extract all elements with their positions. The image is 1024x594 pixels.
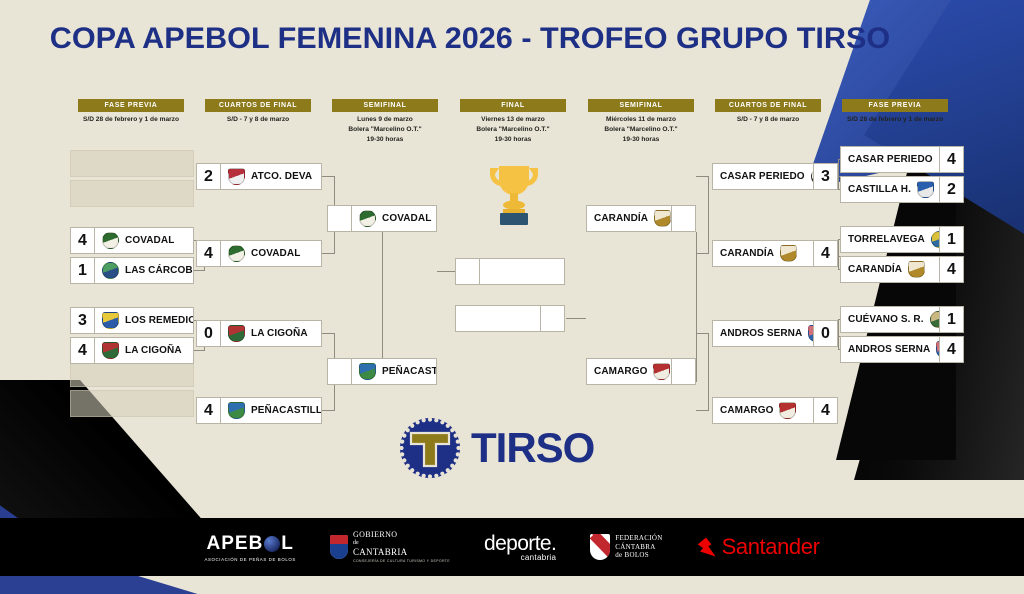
round-badge-final: FINAL: [460, 99, 566, 112]
connector-line: [566, 318, 586, 319]
team-cell: CASTILLA H.: [841, 177, 939, 202]
match-score: 1: [939, 227, 963, 252]
team-crest-icon: [359, 210, 376, 227]
team-cell: COVADAL: [221, 241, 321, 266]
round-subtitle-line: 19-30 horas: [460, 135, 566, 145]
semi-left-row-0[interactable]: COVADAL: [327, 205, 437, 232]
quarter-right-row-3[interactable]: CAMARGO4: [712, 397, 838, 424]
team-name: COVADAL: [251, 248, 300, 259]
round-badge-cuartos-right: CUARTOS DE FINAL: [715, 99, 821, 112]
team-name: CASAR PERIEDO: [720, 171, 805, 182]
team-name: CARANDÍA: [720, 248, 774, 259]
team-name: TORRELAVEGA: [848, 234, 925, 245]
match-score: 1: [71, 258, 95, 283]
federacion-line-1: FEDERACIÓN: [615, 534, 662, 543]
connector-line: [696, 176, 708, 177]
round-header-semifinal-right: SEMIFINALMiércoles 11 de marzoBolera "Ma…: [588, 99, 694, 145]
round-subtitle-line: Bolera "Marcelino O.T.": [588, 125, 694, 135]
team-cell: LAS CÁRCOBAS: [95, 258, 193, 283]
team-cell: [480, 259, 564, 284]
round-subtitle-fase-previa-left: S/D 28 de febrero y 1 de marzo: [78, 115, 184, 125]
match-score: [671, 206, 695, 231]
quarter-right-row-2[interactable]: ANDROS SERNA0: [712, 320, 838, 347]
team-crest-icon: [779, 402, 796, 419]
federacion-shield-icon: [590, 534, 610, 560]
gobierno-line-3: CANTABRIA: [353, 547, 450, 557]
team-crest-icon: [931, 231, 939, 248]
match-score: 0: [813, 321, 837, 346]
semi-left-row-1[interactable]: PEÑACASTILLO: [327, 358, 437, 385]
tirso-wordmark: TIRSO: [471, 424, 594, 472]
match-score: 1: [939, 307, 963, 332]
gobierno-line-1: GOBIERNO: [353, 531, 450, 540]
team-crest-icon: [908, 261, 925, 278]
semi-right-row-0[interactable]: CARANDÍA: [586, 205, 696, 232]
round-subtitle-cuartos-right: S/D - 7 y 8 de marzo: [715, 115, 821, 125]
match-score: 2: [197, 164, 221, 189]
team-crest-icon: [102, 232, 119, 249]
final-row-0[interactable]: [455, 258, 565, 285]
team-cell: CASAR PERIEDO: [841, 147, 939, 172]
round-subtitle-line: S/D - 7 y 8 de marzo: [205, 115, 311, 125]
team-cell: LOS REMEDIOS: [95, 308, 193, 333]
team-crest-icon: [102, 262, 119, 279]
team-name: CASAR PERIEDO: [848, 154, 933, 165]
round-subtitle-line: S/D 28 de febrero y 1 de marzo: [842, 115, 948, 125]
team-cell: CARANDÍA: [713, 241, 813, 266]
round-subtitle-line: Miércoles 11 de marzo: [588, 115, 694, 125]
poster-canvas: COPA APEBOL FEMENINA 2026 - TROFEO GRUPO…: [0, 0, 1024, 576]
prelim-right-row-2[interactable]: TORRELAVEGA1: [840, 226, 964, 253]
team-cell: COVADAL: [95, 228, 193, 253]
team-name: PEÑACASTILLO: [382, 366, 436, 377]
team-cell: CARANDÍA: [587, 206, 671, 231]
logo-federacion-cantabra-bolos: FEDERACIÓN CÁNTABRA de BOLOS: [590, 534, 662, 560]
round-header-semifinal-left: SEMIFINALLunes 9 de marzoBolera "Marceli…: [332, 99, 438, 145]
team-cell: CARANDÍA: [841, 257, 939, 282]
team-name: LAS CÁRCOBAS: [125, 265, 193, 276]
federacion-line-3: de BOLOS: [615, 551, 662, 560]
team-crest-icon: [102, 342, 119, 359]
page-title: COPA APEBOL FEMENINA 2026 - TROFEO GRUPO…: [50, 22, 890, 56]
round-header-fase-previa-left: FASE PREVIAS/D 28 de febrero y 1 de marz…: [78, 99, 184, 125]
team-cell: TORRELAVEGA: [841, 227, 939, 252]
team-crest-icon: [917, 181, 934, 198]
team-cell: CASAR PERIEDO: [713, 164, 813, 189]
round-subtitle-final: Viernes 13 de marzoBolera "Marcelino O.T…: [460, 115, 566, 145]
team-name: CASTILLA H.: [848, 184, 911, 195]
santander-flame-icon: [697, 538, 716, 557]
team-cell: CUÉVANO S. R.: [841, 307, 939, 332]
round-badge-fase-previa-left: FASE PREVIA: [78, 99, 184, 112]
round-header-fase-previa-right: FASE PREVIAS/D 28 de febrero y 1 de marz…: [842, 99, 948, 125]
deporte-subtext: cantabria: [521, 553, 557, 562]
round-subtitle-fase-previa-right: S/D 28 de febrero y 1 de marzo: [842, 115, 948, 125]
round-subtitle-line: S/D - 7 y 8 de marzo: [715, 115, 821, 125]
match-score: [328, 359, 352, 384]
round-header-cuartos-right: CUARTOS DE FINALS/D - 7 y 8 de marzo: [715, 99, 821, 125]
team-crest-icon: [780, 245, 797, 262]
quarter-left-row-2[interactable]: 0LA CIGOÑA: [196, 320, 322, 347]
quarter-left-row-3[interactable]: 4PEÑACASTILLO: [196, 397, 322, 424]
quarter-left-row-0[interactable]: 2ATCO. DEVA: [196, 163, 322, 190]
match-score: 4: [939, 257, 963, 282]
round-badge-semifinal-right: SEMIFINAL: [588, 99, 694, 112]
logo-gobierno-cantabria: GOBIERNO de CANTABRIA CONSEJERÍA DE CULT…: [330, 531, 450, 563]
gobierno-line-2: de: [353, 540, 450, 547]
apebol-text-a: APEB: [207, 533, 264, 555]
cantabria-shield-icon: [330, 535, 348, 559]
team-name: ANDROS SERNA: [848, 344, 930, 355]
tirso-gear-icon: [398, 416, 462, 480]
round-subtitle-line: Bolera "Marcelino O.T.": [332, 125, 438, 135]
connector-line: [696, 253, 708, 254]
match-score: 4: [813, 241, 837, 266]
prelim-right-row-5[interactable]: ANDROS SERNA4: [840, 336, 964, 363]
federacion-line-2: CÁNTABRA: [615, 543, 662, 552]
team-crest-icon: [102, 312, 119, 329]
team-crest-icon: [930, 311, 939, 328]
santander-wordmark: Santander: [722, 534, 820, 560]
round-subtitle-line: Bolera "Marcelino O.T.": [460, 125, 566, 135]
round-subtitle-cuartos-left: S/D - 7 y 8 de marzo: [205, 115, 311, 125]
team-crest-icon: [228, 402, 245, 419]
prelim-left-row-1[interactable]: 1LAS CÁRCOBAS: [70, 257, 194, 284]
match-score: 4: [939, 337, 963, 362]
match-score: 4: [197, 398, 221, 423]
match-score: 4: [71, 228, 95, 253]
quarter-right-row-0[interactable]: CASAR PERIEDO3: [712, 163, 838, 190]
team-crest-icon: [808, 325, 813, 342]
team-name: LA CIGOÑA: [251, 328, 308, 339]
round-badge-semifinal-left: SEMIFINAL: [332, 99, 438, 112]
match-score: 4: [71, 338, 95, 363]
team-cell: LA CIGOÑA: [221, 321, 321, 346]
team-name: CAMARGO: [720, 405, 773, 416]
round-subtitle-line: 19-30 horas: [588, 135, 694, 145]
quarter-left-row-1[interactable]: 4COVADAL: [196, 240, 322, 267]
connector-line: [194, 350, 204, 351]
quarter-right-row-1[interactable]: CARANDÍA4: [712, 240, 838, 267]
tirso-logo: TIRSO: [398, 416, 594, 480]
placeholder-slot: [70, 150, 194, 177]
prelim-right-row-4[interactable]: CUÉVANO S. R.1: [840, 306, 964, 333]
team-name: CAMARGO: [594, 366, 647, 377]
apebol-wordmark: APEB L: [207, 533, 294, 555]
connector-line: [322, 176, 334, 177]
connector-line: [838, 239, 839, 270]
team-crest-icon: [653, 363, 670, 380]
team-crest-icon: [936, 341, 939, 358]
prelim-left-row-0[interactable]: 4COVADAL: [70, 227, 194, 254]
team-crest-icon: [228, 168, 245, 185]
team-name: COVADAL: [125, 235, 174, 246]
logo-santander: Santander: [697, 534, 820, 560]
round-subtitle-semifinal-right: Miércoles 11 de marzoBolera "Marcelino O…: [588, 115, 694, 145]
round-subtitle-line: S/D 28 de febrero y 1 de marzo: [78, 115, 184, 125]
connector-line: [708, 176, 709, 254]
prelim-right-row-1[interactable]: CASTILLA H.2: [840, 176, 964, 203]
team-crest-icon: [228, 325, 245, 342]
round-subtitle-line: 19-30 horas: [332, 135, 438, 145]
apebol-ball-icon: [264, 536, 280, 552]
connector-line: [696, 232, 697, 382]
placeholder-slot: [70, 360, 194, 387]
connector-line: [194, 270, 204, 271]
team-cell: ANDROS SERNA: [841, 337, 939, 362]
semi-right-row-1[interactable]: CAMARGO: [586, 358, 696, 385]
team-crest-icon: [811, 168, 813, 185]
team-cell: PEÑACASTILLO: [221, 398, 321, 423]
gobierno-line-4: CONSEJERÍA DE CULTURA TURISMO Y DEPORTE: [353, 559, 450, 563]
round-subtitle-line: Viernes 13 de marzo: [460, 115, 566, 125]
match-score: [456, 259, 480, 284]
match-score: 4: [939, 147, 963, 172]
match-score: 4: [813, 398, 837, 423]
round-badge-fase-previa-right: FASE PREVIA: [842, 99, 948, 112]
prelim-right-row-3[interactable]: CARANDÍA4: [840, 256, 964, 283]
connector-line: [322, 253, 334, 254]
team-cell: PEÑACASTILLO: [352, 359, 436, 384]
match-score: [328, 206, 352, 231]
final-row-1[interactable]: [455, 305, 565, 332]
team-cell: CAMARGO: [713, 398, 813, 423]
team-name: ATCO. DEVA: [251, 171, 312, 182]
match-score: 2: [939, 177, 963, 202]
team-name: CARANDÍA: [848, 264, 902, 275]
placeholder-slot: [70, 390, 194, 417]
team-name: LOS REMEDIOS: [125, 315, 193, 326]
team-name: ANDROS SERNA: [720, 328, 802, 339]
connector-line: [696, 410, 708, 411]
connector-line: [322, 410, 334, 411]
apebol-text-b: L: [281, 533, 294, 555]
team-name: CARANDÍA: [594, 213, 648, 224]
prelim-left-row-2[interactable]: 3LOS REMEDIOS: [70, 307, 194, 334]
team-name: PEÑACASTILLO: [251, 405, 321, 416]
team-cell: [456, 306, 540, 331]
match-score: 0: [197, 321, 221, 346]
team-cell: ATCO. DEVA: [221, 164, 321, 189]
match-score: 3: [71, 308, 95, 333]
match-score: 4: [197, 241, 221, 266]
sponsor-footer: APEB L ASOCIACIÓN DE PEÑAS DE BOLOS GOBI…: [0, 518, 1024, 576]
team-cell: COVADAL: [352, 206, 436, 231]
team-crest-icon: [228, 245, 245, 262]
connector-line: [437, 271, 455, 272]
connector-line: [708, 333, 709, 411]
placeholder-slot: [70, 180, 194, 207]
team-cell: LA CIGOÑA: [95, 338, 193, 363]
team-name: CUÉVANO S. R.: [848, 314, 924, 325]
prelim-right-row-0[interactable]: CASAR PERIEDO4: [840, 146, 964, 173]
connector-line: [838, 159, 839, 190]
team-name: LA CIGOÑA: [125, 345, 182, 356]
team-crest-icon: [359, 363, 376, 380]
round-subtitle-semifinal-left: Lunes 9 de marzoBolera "Marcelino O.T."1…: [332, 115, 438, 145]
connector-line: [696, 333, 708, 334]
connector-line: [838, 319, 839, 350]
round-header-final: FINALViernes 13 de marzoBolera "Marcelin…: [460, 99, 566, 145]
match-score: [540, 306, 564, 331]
logo-apebol: APEB L ASOCIACIÓN DE PEÑAS DE BOLOS: [204, 533, 295, 562]
team-name: COVADAL: [382, 213, 431, 224]
apebol-tagline: ASOCIACIÓN DE PEÑAS DE BOLOS: [204, 557, 295, 562]
round-header-cuartos-left: CUARTOS DE FINALS/D - 7 y 8 de marzo: [205, 99, 311, 125]
team-cell: CAMARGO: [587, 359, 671, 384]
match-score: 3: [813, 164, 837, 189]
match-score: [671, 359, 695, 384]
logo-deporte-cantabria: deporte. cantabria: [484, 532, 556, 562]
round-badge-cuartos-left: CUARTOS DE FINAL: [205, 99, 311, 112]
trophy-icon: [486, 160, 542, 230]
prelim-left-row-3[interactable]: 4LA CIGOÑA: [70, 337, 194, 364]
connector-line: [322, 333, 334, 334]
team-crest-icon: [654, 210, 671, 227]
round-subtitle-line: Lunes 9 de marzo: [332, 115, 438, 125]
team-cell: ANDROS SERNA: [713, 321, 813, 346]
